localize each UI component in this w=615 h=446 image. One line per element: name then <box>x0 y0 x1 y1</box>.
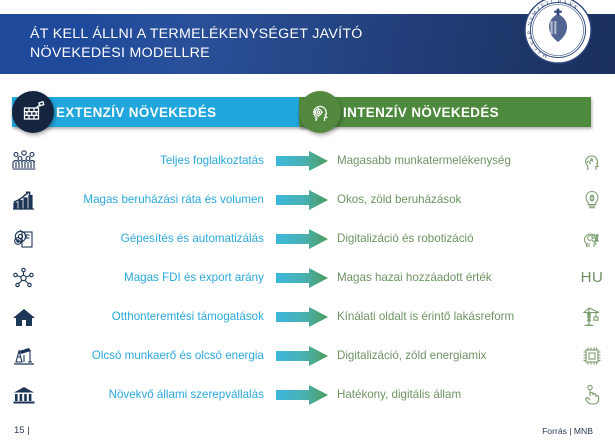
people-group-icon <box>0 149 48 173</box>
row-left-text: Magas FDI és export arány <box>48 271 274 284</box>
table-row: Teljes foglalkoztatás Magasabb munkaterm… <box>0 141 615 180</box>
construction-crane-icon <box>569 305 615 329</box>
extensive-growth-banner[interactable]: EXTENZÍV NÖVEKEDÉS <box>12 95 308 129</box>
row-right-text: Okos, zöld beruházások <box>331 193 569 206</box>
right-arrow-icon <box>274 346 331 366</box>
table-row: Gépesítés és automatizálás Digitalizáció… <box>0 219 615 258</box>
row-right-text: Kínálati oldalt is érintő lakásreform <box>331 310 569 323</box>
right-arrow-icon <box>274 190 331 210</box>
right-arrow-icon <box>274 268 331 288</box>
growth-bar-chart-icon <box>0 188 48 212</box>
brain-head-icon <box>569 149 615 173</box>
intensive-growth-label: INTENZÍV NÖVEKEDÉS <box>299 97 591 127</box>
right-arrow-icon <box>274 307 331 327</box>
section-banners: EXTENZÍV NÖVEKEDÉS INTENZÍV NÖVEKEDÉS <box>0 95 615 137</box>
head-gear-icon <box>299 91 341 133</box>
row-left-text: Magas beruházási ráta és volumen <box>48 193 274 206</box>
house-icon <box>0 305 48 329</box>
extensive-growth-label: EXTENZÍV NÖVEKEDÉS <box>12 97 308 127</box>
mnb-seal-logo: MAGYAR NEMZETI BANK <box>523 0 593 65</box>
row-right-text: Hatékony, digitális állam <box>331 388 569 401</box>
row-right-text: Digitalizáció és robotizáció <box>331 232 569 245</box>
network-nodes-icon <box>0 266 48 290</box>
row-left-text: Olcsó munkaerő és olcsó energia <box>48 349 274 362</box>
bank-building-icon <box>0 383 48 407</box>
intensive-growth-banner[interactable]: INTENZÍV NÖVEKEDÉS <box>299 95 591 129</box>
right-arrow-icon <box>274 151 331 171</box>
table-row: Magas beruházási ráta és volumen Okos, z… <box>0 180 615 219</box>
row-left-text: Növekvő állami szerepvállalás <box>48 388 274 401</box>
oil-pump-icon <box>0 344 48 368</box>
cpu-chip-icon <box>569 344 615 368</box>
row-left-text: Otthonteremtési támogatások <box>48 310 274 323</box>
gear-document-icon <box>0 227 48 251</box>
table-row: Növekvő állami szerepvállalás Hatékony, … <box>0 375 615 414</box>
brick-wall-icon <box>12 91 54 133</box>
comparison-rows: Teljes foglalkoztatás Magasabb munkaterm… <box>0 141 615 414</box>
page-number: 15 | <box>14 425 30 436</box>
row-left-text: Gépesítés és automatizálás <box>48 232 274 245</box>
hu-label-icon: HU <box>569 269 615 286</box>
row-right-text: Magas hazai hozzáadott érték <box>331 271 569 284</box>
robot-head-icon <box>569 227 615 251</box>
hu-label-text: HU <box>581 269 604 286</box>
source-label: Forrás | MNB <box>542 426 593 436</box>
row-left-text: Teljes foglalkoztatás <box>48 154 274 167</box>
row-right-text: Digitalizáció, zöld energiamix <box>331 349 569 362</box>
row-right-text: Magasabb munkatermelékenység <box>331 154 569 167</box>
pointing-hand-icon <box>569 383 615 407</box>
table-row: Magas FDI és export arány Magas hazai ho… <box>0 258 615 297</box>
page-title: ÁT KELL ÁLLNI A TERMELÉKENYSÉGET JAVÍTÓ … <box>0 25 450 63</box>
leaf-lightbulb-icon <box>569 188 615 212</box>
table-row: Olcsó munkaerő és olcsó energia Digitali… <box>0 336 615 375</box>
right-arrow-icon <box>274 229 331 249</box>
table-row: Otthonteremtési támogatások Kínálati old… <box>0 297 615 336</box>
right-arrow-icon <box>274 385 331 405</box>
